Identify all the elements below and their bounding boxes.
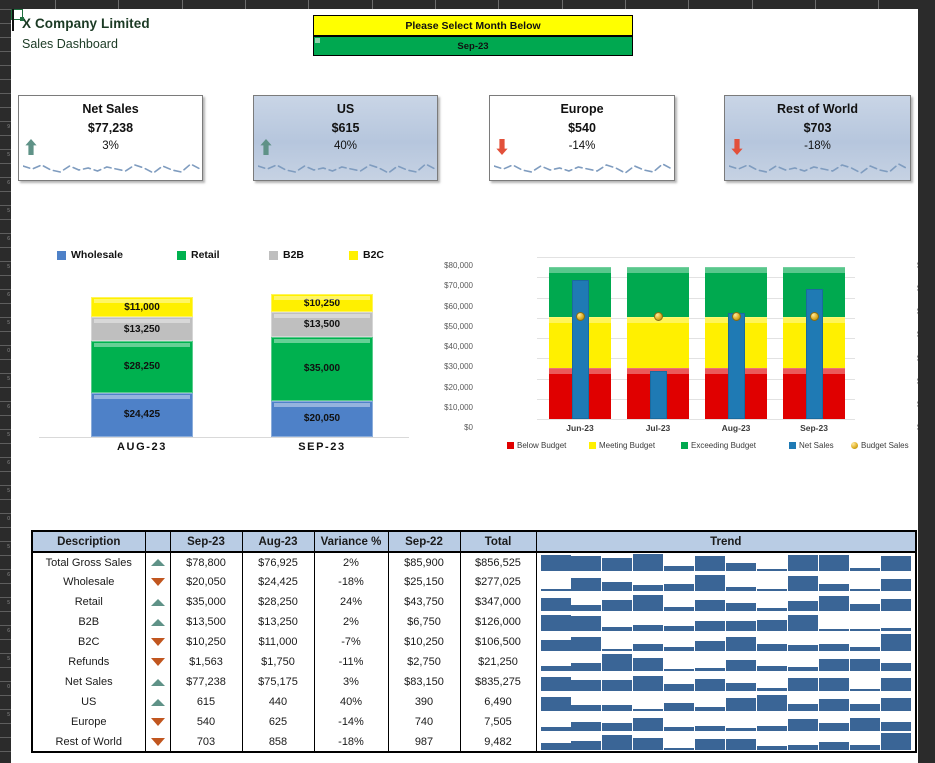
cell-aug23: $75,175 xyxy=(242,672,314,692)
cell-aug23: 858 xyxy=(242,732,314,752)
sparkline-bar xyxy=(757,695,787,711)
budget-sales-marker xyxy=(810,312,819,321)
legend-item-exceeding-budget[interactable]: Exceeding Budget xyxy=(681,441,756,450)
sparkline-bar xyxy=(757,746,787,750)
bar-segment-b2b: $13,250 xyxy=(91,317,193,341)
bar-data-label: $28,250 xyxy=(124,361,160,372)
net-sales-bar xyxy=(572,280,589,419)
trend-up-icon xyxy=(145,592,170,612)
sparkline-bar xyxy=(726,683,756,691)
sparkline-bar xyxy=(664,566,694,571)
cell-sep23: 615 xyxy=(170,692,242,712)
sparkline-bars xyxy=(539,714,914,731)
cell-sep23: 703 xyxy=(170,732,242,752)
sparkline-bars xyxy=(539,634,914,651)
sparkline-bar xyxy=(695,679,725,691)
sparkline-bar xyxy=(664,626,694,631)
budget-vs-actual-chart[interactable]: $0$10,000$20,000$30,000$40,000$50,000$60… xyxy=(479,249,918,467)
sparkline-bar xyxy=(633,738,663,750)
budget-bar-group[interactable] xyxy=(783,257,845,419)
stacked-bar-column[interactable]: $24,425$28,250$13,250$11,000 xyxy=(91,241,193,437)
chart-plot-area: $0$10,000$20,000$30,000$40,000$50,000$60… xyxy=(537,257,855,419)
budget-sales-marker xyxy=(654,312,663,321)
sparkline-bar xyxy=(850,745,880,750)
primary-axis-tick-label: $30,000 xyxy=(413,362,473,371)
sparkline-bar xyxy=(819,678,849,691)
table-body: Total Gross Sales$78,800$76,9252%$85,900… xyxy=(32,552,916,752)
sparkline-bar xyxy=(633,676,663,691)
column-header-trend[interactable]: Trend xyxy=(536,531,916,552)
primary-axis-tick-label: $40,000 xyxy=(413,342,473,351)
table-row[interactable]: Europe540625-14%7407,505 xyxy=(32,712,916,732)
legend-swatch-icon xyxy=(57,251,66,260)
excel-right-margin xyxy=(918,0,935,763)
cell-total: 9,482 xyxy=(460,732,536,752)
cell-description: B2B xyxy=(32,612,145,632)
cell-sep22: 390 xyxy=(388,692,460,712)
sparkline-bar xyxy=(571,705,601,711)
cell-trend-sparkline xyxy=(536,612,916,632)
legend-label: Net Sales xyxy=(799,441,834,450)
kpi-card-europe[interactable]: Europe$540-14% xyxy=(489,95,675,181)
sparkline-bar xyxy=(757,569,787,571)
cell-sep22: $43,750 xyxy=(388,592,460,612)
excel-column-header-band xyxy=(0,0,935,9)
table-row[interactable]: Total Gross Sales$78,800$76,9252%$85,900… xyxy=(32,552,916,572)
cell-trend-sparkline xyxy=(536,592,916,612)
band-highlight xyxy=(549,268,611,273)
legend-item-net-sales[interactable]: Net Sales xyxy=(789,441,834,450)
sparkline-bar xyxy=(726,660,756,671)
column-header-description[interactable]: Description xyxy=(32,531,145,552)
cell-total: $347,000 xyxy=(460,592,536,612)
net-sales-bar xyxy=(728,313,745,419)
kpi-change-percent: -14% xyxy=(490,140,674,152)
cell-variance: 24% xyxy=(314,592,388,612)
trend-down-icon xyxy=(145,732,170,752)
net-sales-bar xyxy=(650,371,667,419)
trend-up-icon xyxy=(145,612,170,632)
cell-total: $856,525 xyxy=(460,552,536,572)
cell-sep22: $83,150 xyxy=(388,672,460,692)
kpi-card-net-sales[interactable]: Net Sales$77,2383% xyxy=(18,95,203,181)
kpi-title: Rest of World xyxy=(725,102,910,116)
trend-up-icon xyxy=(145,692,170,712)
bar-segment-wholesale: $24,425 xyxy=(91,393,193,437)
sparkline-bar xyxy=(788,678,818,691)
legend-swatch-icon xyxy=(681,442,688,449)
cell-variance: -18% xyxy=(314,732,388,752)
cell-aug23: $24,425 xyxy=(242,572,314,592)
axis-category-label: Jul-23 xyxy=(620,423,696,433)
sparkline-bar xyxy=(571,680,601,691)
segment-highlight xyxy=(274,314,370,318)
cell-sep23: $77,238 xyxy=(170,672,242,692)
axis-category-label: Jun-23 xyxy=(542,423,618,433)
column-header-variance[interactable]: Variance % xyxy=(314,531,388,552)
cell-trend-sparkline xyxy=(536,712,916,732)
cell-description: Retail xyxy=(32,592,145,612)
kpi-title: US xyxy=(254,102,437,116)
cell-aug23: 625 xyxy=(242,712,314,732)
sparkline-bars xyxy=(539,694,914,711)
sparkline-bar xyxy=(571,637,601,651)
trend-down-icon xyxy=(145,712,170,732)
sparkline-bar xyxy=(850,568,880,571)
gridline xyxy=(537,419,855,420)
sparkline-bar xyxy=(726,563,756,571)
axis-category-label: Sep-23 xyxy=(776,423,852,433)
sparkline-bar xyxy=(850,647,880,651)
segment-highlight xyxy=(94,319,190,323)
legend-label: Exceeding Budget xyxy=(691,441,756,450)
table-row[interactable]: B2B$13,500$13,2502%$6,750$126,000 xyxy=(32,612,916,632)
sparkline-bar xyxy=(664,748,694,750)
cell-total: $126,000 xyxy=(460,612,536,632)
table-row[interactable]: B2C$10,250$11,000-7%$10,250$106,500 xyxy=(32,632,916,652)
cell-total: $106,500 xyxy=(460,632,536,652)
band-highlight xyxy=(627,268,689,273)
bar-data-label: $11,000 xyxy=(124,302,160,313)
sparkline-bar xyxy=(602,705,632,711)
sparkline-bar xyxy=(881,628,911,631)
sparkline-bar xyxy=(541,589,571,591)
stacked-bar-column[interactable]: $20,050$35,000$13,500$10,250 xyxy=(271,241,373,437)
axis-category-label: Aug-23 xyxy=(698,423,774,433)
kpi-change-percent: 3% xyxy=(19,140,202,152)
cell-sep22: $2,750 xyxy=(388,652,460,672)
sparkline-bar xyxy=(602,654,632,671)
cell-sep23: $10,250 xyxy=(170,632,242,652)
segment-highlight xyxy=(94,343,190,347)
sparkline-bar xyxy=(819,596,849,611)
sparkline-bar xyxy=(602,600,632,611)
sparkline-bar xyxy=(757,620,787,631)
sparkline-bar xyxy=(571,616,601,631)
cell-description: Europe xyxy=(32,712,145,732)
cell-sep23: 540 xyxy=(170,712,242,732)
sparkline-bars xyxy=(539,733,914,750)
cell-sep23: $13,500 xyxy=(170,612,242,632)
kpi-value: $703 xyxy=(725,121,910,135)
cell-trend-sparkline xyxy=(536,692,916,712)
bar-segment-b2b: $13,500 xyxy=(271,312,373,337)
sparkline-bar xyxy=(757,688,787,691)
cell-aug23: 440 xyxy=(242,692,314,712)
sparkline-bar xyxy=(726,603,756,611)
sparkline-bar xyxy=(881,678,911,691)
legend-marker-icon xyxy=(851,442,858,449)
legend-label: Meeting Budget xyxy=(599,441,655,450)
sparkline-bar xyxy=(757,589,787,591)
sparkline-bar xyxy=(602,627,632,631)
legend-label: Budget Sales xyxy=(861,441,909,450)
table-row[interactable]: Net Sales$77,238$75,1753%$83,150$835,275 xyxy=(32,672,916,692)
kpi-change-percent: -18% xyxy=(725,140,910,152)
kpi-change-percent: 40% xyxy=(254,140,437,152)
sparkline-bar xyxy=(602,582,632,591)
budget-band-meeting-budget xyxy=(627,317,689,369)
sparkline-bar xyxy=(850,718,880,731)
sparkline-bar xyxy=(819,742,849,750)
primary-axis-tick-label: $20,000 xyxy=(413,383,473,392)
bar-data-label: $20,050 xyxy=(304,413,340,424)
cell-variance: -14% xyxy=(314,712,388,732)
sparkline-bar xyxy=(726,739,756,750)
axis-category-label: SEP-23 xyxy=(271,441,373,453)
cell-sep22: 987 xyxy=(388,732,460,752)
sparkline-bar xyxy=(602,649,632,651)
sparkline-bar xyxy=(602,680,632,691)
cell-variance: -11% xyxy=(314,652,388,672)
sparkline-bar xyxy=(602,723,632,731)
cell-sep22: 740 xyxy=(388,712,460,732)
sparkline-bar xyxy=(788,576,818,591)
sparkline-bar xyxy=(788,615,818,631)
sparkline-bar xyxy=(726,728,756,731)
sparkline-bar xyxy=(571,722,601,731)
sparkline-bar xyxy=(881,722,911,731)
table-row[interactable]: Refunds$1,563$1,750-11%$2,750$21,250 xyxy=(32,652,916,672)
cell-description: Net Sales xyxy=(32,672,145,692)
sparkline-bar xyxy=(602,735,632,750)
sparkline-bar xyxy=(633,554,663,571)
selector-handle-icon xyxy=(315,38,320,43)
band-highlight xyxy=(783,268,845,273)
trend-up-icon xyxy=(145,672,170,692)
sparkline-bar xyxy=(541,615,571,631)
sparkline-bar xyxy=(541,727,571,731)
kpi-value: $77,238 xyxy=(19,121,202,135)
table-row[interactable]: Retail$35,000$28,25024%$43,750$347,000 xyxy=(32,592,916,612)
sparkline-bar xyxy=(541,743,571,750)
sparkline-bar xyxy=(664,684,694,691)
sparkline-bar xyxy=(695,739,725,750)
sparkline-bar xyxy=(571,663,601,671)
bar-segment-b2c: $11,000 xyxy=(91,297,193,317)
trend-down-icon xyxy=(145,632,170,652)
sparkline-bar xyxy=(633,709,663,711)
cell-variance: 40% xyxy=(314,692,388,712)
legend-item-below-budget[interactable]: Below Budget xyxy=(507,441,566,450)
table-row[interactable]: US61544040%3906,490 xyxy=(32,692,916,712)
sparkline-bar xyxy=(726,587,756,591)
kpi-sparkline xyxy=(258,153,433,177)
legend-label: Retail xyxy=(191,249,220,261)
cell-trend-sparkline xyxy=(536,552,916,572)
bar-segment-wholesale: $20,050 xyxy=(271,401,373,437)
budget-band-exceeding-budget xyxy=(627,267,689,317)
legend-item-meeting-budget[interactable]: Meeting Budget xyxy=(589,441,655,450)
sparkline-bar xyxy=(819,723,849,731)
primary-axis-tick-label: $50,000 xyxy=(413,322,473,331)
budget-bar-group[interactable] xyxy=(705,257,767,419)
sparkline-bar xyxy=(850,589,880,591)
sparkline-bar xyxy=(757,644,787,651)
sparkline-bar xyxy=(881,663,911,671)
sparkline-bar xyxy=(664,669,694,671)
sparkline-bar xyxy=(695,556,725,571)
sparkline-bar xyxy=(881,733,911,750)
cell-total: $277,025 xyxy=(460,572,536,592)
sparkline-bar xyxy=(633,585,663,591)
cell-aug23: $76,925 xyxy=(242,552,314,572)
sparkline-bar xyxy=(695,575,725,591)
segment-highlight xyxy=(94,395,190,399)
sparkline-bar xyxy=(695,668,725,671)
sparkline-bar xyxy=(633,658,663,671)
cell-sep22: $85,900 xyxy=(388,552,460,572)
primary-axis-tick-label: $80,000 xyxy=(413,261,473,270)
worksheet-canvas: X Company Limited Sales Dashboard Please… xyxy=(11,9,918,763)
sparkline-bars xyxy=(539,614,914,631)
column-header-sep23[interactable]: Sep-23 xyxy=(170,531,242,552)
kpi-card-us[interactable]: US$61540% xyxy=(253,95,438,181)
kpi-title: Net Sales xyxy=(19,102,202,116)
sparkline-bar xyxy=(788,555,818,571)
legend-swatch-icon xyxy=(789,442,796,449)
sparkline-bar xyxy=(571,578,601,591)
bar-segment-retail: $35,000 xyxy=(271,337,373,401)
sparkline-bar xyxy=(541,598,571,611)
cell-description: B2C xyxy=(32,632,145,652)
legend-label: Below Budget xyxy=(517,441,566,450)
sparkline-bar xyxy=(850,659,880,671)
primary-axis-tick-label: $60,000 xyxy=(413,302,473,311)
sparkline-bar xyxy=(788,704,818,711)
trend-up-icon xyxy=(145,552,170,572)
kpi-sparkline xyxy=(729,153,906,177)
bar-data-label: $10,250 xyxy=(304,298,340,309)
budget-band-exceeding-budget xyxy=(705,267,767,317)
sparkline-bar xyxy=(664,607,694,611)
cell-aug23: $11,000 xyxy=(242,632,314,652)
sparkline-bar xyxy=(571,556,601,571)
sparkline-bar xyxy=(633,718,663,731)
table-header-row: Description Sep-23 Aug-23 Variance % Sep… xyxy=(32,531,916,552)
sparkline-bar xyxy=(726,637,756,651)
column-header-indicator[interactable] xyxy=(145,531,170,552)
sparkline-bar xyxy=(819,659,849,671)
sparkline-bar xyxy=(695,707,725,711)
sparkline-bar xyxy=(819,629,849,631)
cell-sep22: $10,250 xyxy=(388,632,460,652)
primary-axis-tick-label: $0 xyxy=(413,423,473,432)
page-subtitle: Sales Dashboard xyxy=(22,37,118,51)
cell-sep23: $20,050 xyxy=(170,572,242,592)
sparkline-bar xyxy=(757,608,787,611)
segment-highlight xyxy=(274,403,370,407)
sparkline-bar xyxy=(881,698,911,711)
cell-variance: -18% xyxy=(314,572,388,592)
sparkline-bar xyxy=(850,689,880,691)
text-cursor xyxy=(12,9,14,31)
axis-category-label: AUG-23 xyxy=(91,441,193,453)
cell-description: Wholesale xyxy=(32,572,145,592)
sparkline-bar xyxy=(819,555,849,571)
sparkline-bar xyxy=(726,698,756,711)
sparkline-bar xyxy=(850,604,880,611)
sparkline-bar xyxy=(664,647,694,651)
sparkline-bar xyxy=(633,625,663,631)
sparkline-bar xyxy=(664,727,694,731)
cell-variance: 2% xyxy=(314,612,388,632)
kpi-card-rest-of-world[interactable]: Rest of World$703-18% xyxy=(724,95,911,181)
sparkline-bar xyxy=(541,555,571,571)
sparkline-bar xyxy=(541,666,571,671)
cell-trend-sparkline xyxy=(536,572,916,592)
segment-highlight xyxy=(274,339,370,343)
cell-trend-sparkline xyxy=(536,652,916,672)
legend-item-budget-sales[interactable]: Budget Sales xyxy=(851,441,909,450)
budget-bar-group[interactable] xyxy=(549,257,611,419)
sparkline-bar xyxy=(850,629,880,631)
chart-baseline xyxy=(39,437,409,438)
cell-sep23: $78,800 xyxy=(170,552,242,572)
table-row[interactable]: Rest of World703858-18%9879,482 xyxy=(32,732,916,752)
sparkline-bar xyxy=(819,644,849,651)
sparkline-bar xyxy=(541,640,571,651)
kpi-sparkline xyxy=(23,153,198,177)
sales-mix-stacked-bar-chart[interactable]: WholesaleRetailB2BB2C $24,425$28,250$13,… xyxy=(29,241,414,473)
column-header-aug23[interactable]: Aug-23 xyxy=(242,531,314,552)
cell-total: $21,250 xyxy=(460,652,536,672)
bar-segment-retail: $28,250 xyxy=(91,341,193,392)
legend-swatch-icon xyxy=(589,442,596,449)
cell-description: US xyxy=(32,692,145,712)
sparkline-bars xyxy=(539,674,914,691)
cell-trend-sparkline xyxy=(536,632,916,652)
bar-data-label: $35,000 xyxy=(304,363,340,374)
bar-data-label: $13,500 xyxy=(304,319,340,330)
sparkline-bar xyxy=(633,595,663,611)
budget-sales-marker xyxy=(576,312,585,321)
column-header-total[interactable]: Total xyxy=(460,531,536,552)
month-selector-dropdown[interactable]: Sep-23 xyxy=(313,36,633,56)
cell-sep23: $35,000 xyxy=(170,592,242,612)
chart-legend: Below BudgetMeeting BudgetExceeding Budg… xyxy=(479,441,918,455)
table-row[interactable]: Wholesale$20,050$24,425-18%$25,150$277,0… xyxy=(32,572,916,592)
trend-down-icon xyxy=(145,572,170,592)
column-header-sep22[interactable]: Sep-22 xyxy=(388,531,460,552)
cell-total: 7,505 xyxy=(460,712,536,732)
primary-axis-tick-label: $70,000 xyxy=(413,281,473,290)
sparkline-bar xyxy=(881,579,911,591)
sparkline-bars xyxy=(539,654,914,671)
trend-down-icon xyxy=(145,652,170,672)
primary-axis-tick-label: $10,000 xyxy=(413,403,473,412)
sparkline-bar xyxy=(788,667,818,671)
budget-sales-marker xyxy=(732,312,741,321)
sparkline-bar xyxy=(633,644,663,651)
cell-aug23: $13,250 xyxy=(242,612,314,632)
sparkline-bars xyxy=(539,594,914,611)
sparkline-bar xyxy=(881,634,911,651)
sparkline-bar xyxy=(788,745,818,750)
sparkline-bar xyxy=(571,741,601,750)
sparkline-bar xyxy=(726,621,756,631)
sparkline-bars xyxy=(539,574,914,591)
kpi-value: $615 xyxy=(254,121,437,135)
sparkline-bar xyxy=(695,621,725,631)
month-selector-value: Sep-23 xyxy=(457,41,488,52)
cell-variance: -7% xyxy=(314,632,388,652)
excel-row-header-band: 9565656505656505656505 xyxy=(0,0,11,763)
budget-bar-group[interactable] xyxy=(627,257,689,419)
sparkline-bar xyxy=(695,600,725,611)
cell-sep23: $1,563 xyxy=(170,652,242,672)
sparkline-bars xyxy=(539,554,914,571)
